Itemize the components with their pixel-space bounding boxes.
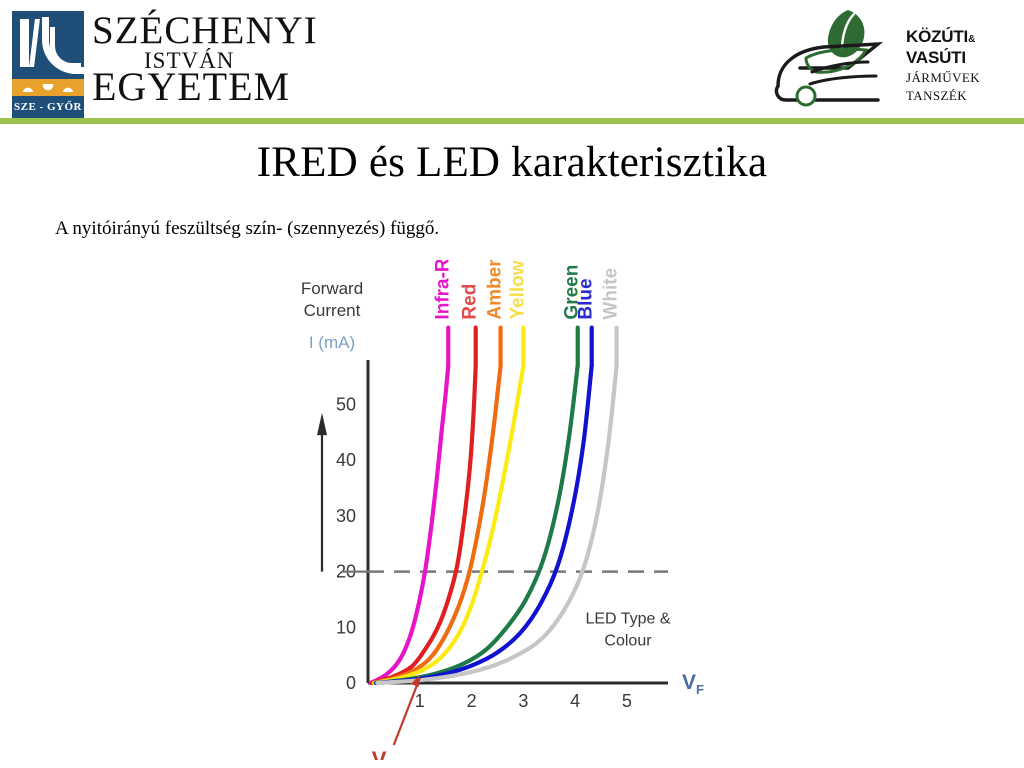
university-wave-band-icon bbox=[12, 79, 84, 97]
y-tick-label: 0 bbox=[346, 673, 356, 693]
header-divider bbox=[0, 118, 1024, 124]
x-tick-label: 5 bbox=[622, 691, 632, 711]
dept-line4: TANSZÉK bbox=[906, 88, 1018, 103]
dept-line1: KÖZÚTI bbox=[906, 27, 968, 46]
y-tick-label: 10 bbox=[336, 617, 356, 637]
curve-label-red: Red bbox=[460, 284, 481, 320]
department-logo: KÖZÚTI& VASÚTI JÁRMŰVEK TANSZÉK bbox=[770, 6, 1018, 114]
dept-line2: VASÚTI bbox=[906, 49, 1018, 67]
department-wordmark: KÖZÚTI& VASÚTI JÁRMŰVEK TANSZÉK bbox=[906, 28, 1018, 103]
curve-label-yellow: Yellow bbox=[507, 260, 528, 319]
slide-header: SZE - GYŐR SZÉCHENYI ISTVÁN EGYETEM bbox=[0, 0, 1024, 118]
curve-label-blue: Blue bbox=[576, 278, 597, 319]
y-axis-unit-label: I (mA) bbox=[309, 333, 355, 352]
university-badge-text: SZE - GYŐR bbox=[12, 96, 84, 119]
svg-text:VF: VF bbox=[682, 671, 704, 697]
slide-root: SZE - GYŐR SZÉCHENYI ISTVÁN EGYETEM bbox=[0, 0, 1024, 768]
chart-svg: 0102030405012345Infra-RedRedAmberYellowG… bbox=[280, 260, 740, 760]
x-tick-label: 1 bbox=[415, 691, 425, 711]
university-logo: SZE - GYŐR bbox=[12, 11, 84, 108]
y-tick-label: 50 bbox=[336, 395, 356, 415]
curve-label-white: White bbox=[601, 268, 622, 320]
led-characteristic-chart: 0102030405012345Infra-RedRedAmberYellowG… bbox=[280, 260, 740, 760]
chart-annotation-line1: LED Type & bbox=[585, 611, 670, 628]
university-name-line1: SZÉCHENYI bbox=[92, 8, 318, 53]
curve-label-amber: Amber bbox=[485, 260, 506, 320]
university-name-line3: EGYETEM bbox=[92, 63, 290, 110]
curve-layer: Infra-RedRedAmberYellowGreenBlueWhite bbox=[371, 260, 622, 683]
x-tick-label: 4 bbox=[570, 691, 580, 711]
department-vehicle-leaf-icon bbox=[770, 6, 910, 112]
y-tick-label: 30 bbox=[336, 506, 356, 526]
curve-infra-red bbox=[371, 366, 449, 683]
dept-line3: JÁRMŰVEK bbox=[906, 70, 1018, 85]
chart-annotation-line2: Colour bbox=[604, 633, 652, 650]
page-title: IRED és LED karakterisztika bbox=[0, 138, 1024, 187]
vf-annotation-label: VF bbox=[372, 747, 396, 760]
curve-label-infra-red: Infra-Red bbox=[432, 260, 453, 320]
dept-ampersand: & bbox=[968, 34, 975, 45]
page-subtitle: A nyitóirányú feszültség szín- (szennyez… bbox=[55, 218, 439, 240]
x-axis-title: VF bbox=[682, 671, 704, 697]
y-axis-title-line1: Forward bbox=[301, 279, 363, 298]
university-wordmark: SZÉCHENYI ISTVÁN EGYETEM bbox=[92, 8, 412, 108]
curve-amber bbox=[373, 366, 500, 683]
y-axis-title-line2: Current bbox=[304, 301, 361, 320]
current-direction-arrow-icon bbox=[317, 413, 327, 572]
x-tick-label: 3 bbox=[518, 691, 528, 711]
x-tick-label: 2 bbox=[467, 691, 477, 711]
university-crest-icon bbox=[12, 11, 84, 83]
y-tick-label: 40 bbox=[336, 450, 356, 470]
